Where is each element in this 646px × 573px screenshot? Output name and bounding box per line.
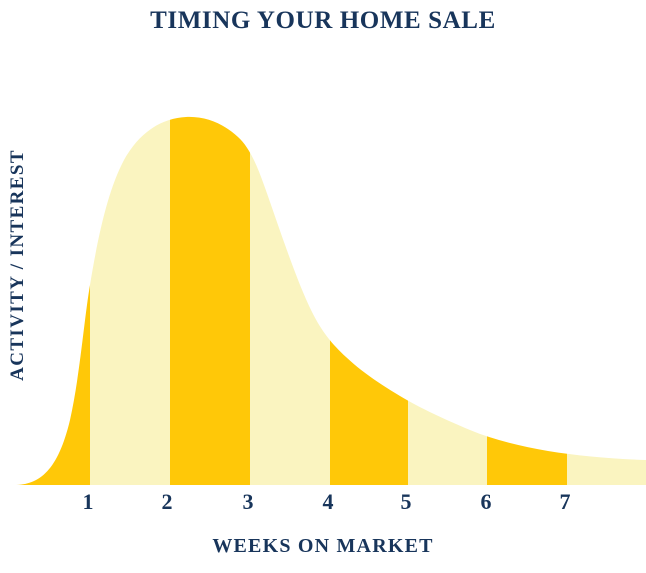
x-tick-2: 2 bbox=[147, 489, 187, 515]
band-week-7-8 bbox=[567, 0, 646, 490]
band-week-2-3 bbox=[170, 0, 250, 490]
curve-band-group bbox=[0, 0, 646, 490]
x-axis-title: WEEKS ON MARKET bbox=[0, 535, 646, 558]
x-axis-tick-labels: 1 2 3 4 5 6 7 bbox=[0, 489, 646, 519]
band-week-4-5 bbox=[330, 0, 408, 490]
band-week-1-2 bbox=[90, 0, 170, 490]
x-tick-6: 6 bbox=[466, 489, 506, 515]
band-week-5-6 bbox=[408, 0, 487, 490]
area-curve-svg bbox=[0, 0, 646, 490]
band-week-6-7 bbox=[487, 0, 567, 490]
plot-area bbox=[0, 0, 646, 490]
band-week-3-4 bbox=[250, 0, 330, 490]
x-tick-7: 7 bbox=[545, 489, 585, 515]
x-tick-4: 4 bbox=[308, 489, 348, 515]
x-tick-5: 5 bbox=[386, 489, 426, 515]
band-week-0-1 bbox=[0, 0, 90, 490]
chart-container: TIMING YOUR HOME SALE ACTIVITY / INTERES… bbox=[0, 0, 646, 573]
x-tick-1: 1 bbox=[68, 489, 108, 515]
x-tick-3: 3 bbox=[228, 489, 268, 515]
